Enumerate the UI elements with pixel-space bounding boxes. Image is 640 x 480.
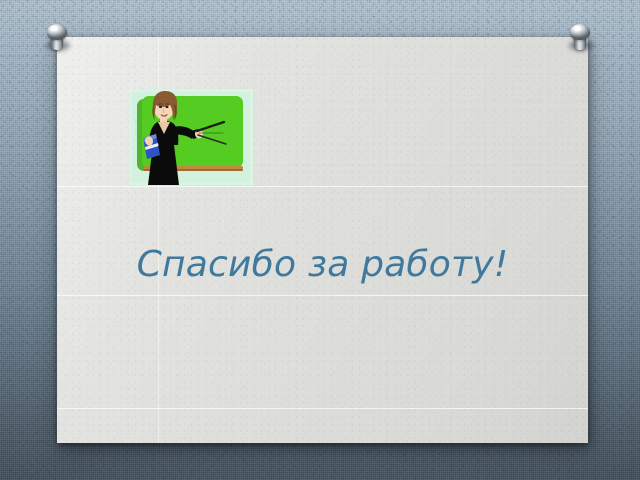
- pushpin-right[interactable]: [567, 24, 593, 58]
- slide-title: Спасибо за работу!: [57, 242, 588, 288]
- teacher-at-chalkboard-image[interactable]: [129, 89, 253, 185]
- pushpin-left[interactable]: [44, 24, 70, 58]
- slide-viewer: Спасибо за работу!: [0, 0, 640, 480]
- pushpin-left-glint: [51, 26, 58, 31]
- slide-card[interactable]: Спасибо за работу!: [57, 37, 588, 443]
- pushpin-right-glint: [574, 26, 581, 31]
